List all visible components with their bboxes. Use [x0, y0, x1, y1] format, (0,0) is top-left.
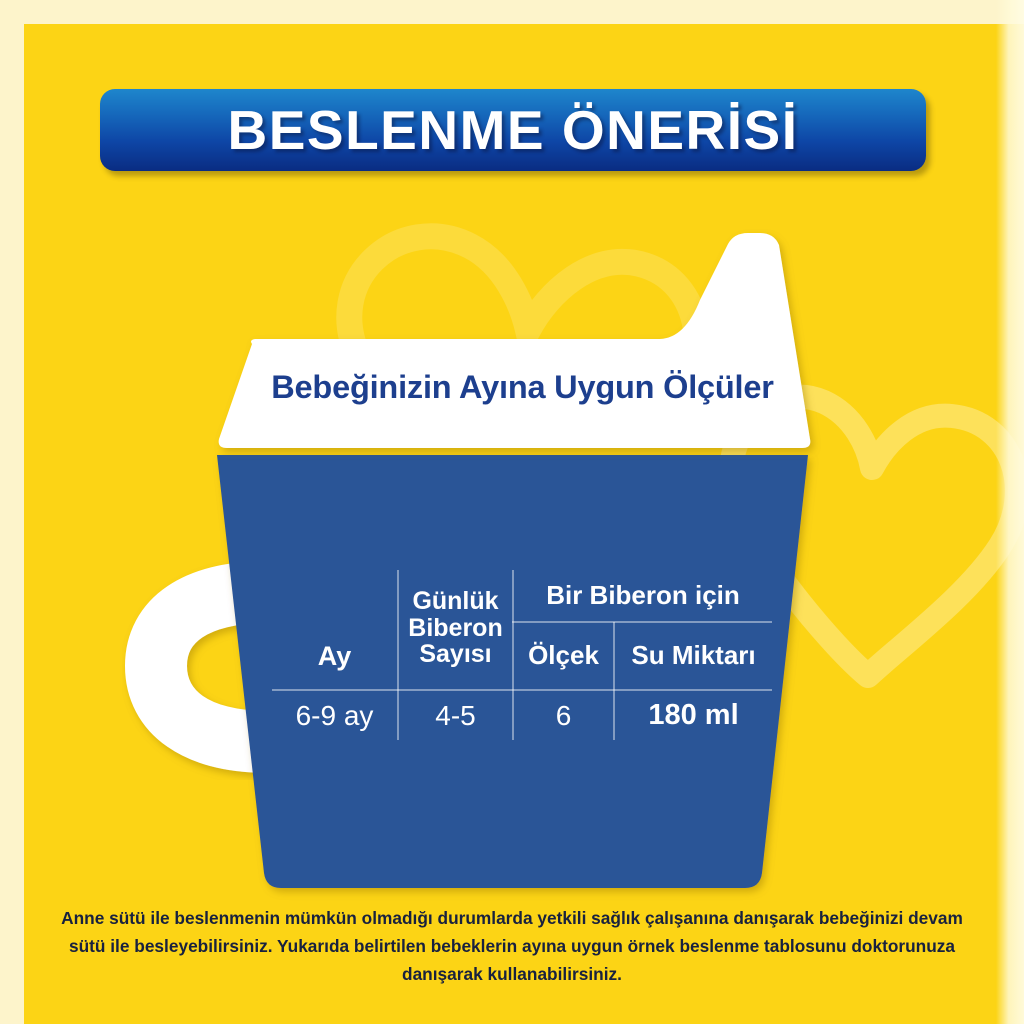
measuring-cup-illustration — [0, 0, 1024, 1024]
table-divider-header-bottom — [272, 689, 772, 691]
feeding-table: Ay Günlük Biberon Sayısı Bir Biberon içi… — [272, 560, 772, 740]
table-header-month: Ay — [272, 628, 397, 684]
table-cell-month: 6-9 ay — [272, 692, 397, 740]
table-divider-group-underline — [512, 621, 772, 623]
table-cell-water-amount: 180 ml — [615, 692, 772, 740]
table-header-daily-bottles: Günlük Biberon Sayısı — [399, 572, 512, 684]
table-cell-scoop: 6 — [514, 692, 613, 740]
table-header-water-amount: Su Miktarı — [615, 628, 772, 684]
table-header-per-bottle-group: Bir Biberon için — [514, 572, 772, 620]
table-header-scoop: Ölçek — [514, 628, 613, 684]
footer-disclaimer: Anne sütü ile beslenmenin mümkün olmadığ… — [52, 904, 972, 988]
poster-root: BESLENME ÖNERİSİ Bebeğinizin Ayına Uygun… — [0, 0, 1024, 1024]
table-cell-daily-bottles: 4-5 — [399, 692, 512, 740]
lid-caption-text: Bebeğinizin Ayına Uygun Ölçüler — [250, 369, 795, 406]
cup-lid — [219, 233, 811, 448]
